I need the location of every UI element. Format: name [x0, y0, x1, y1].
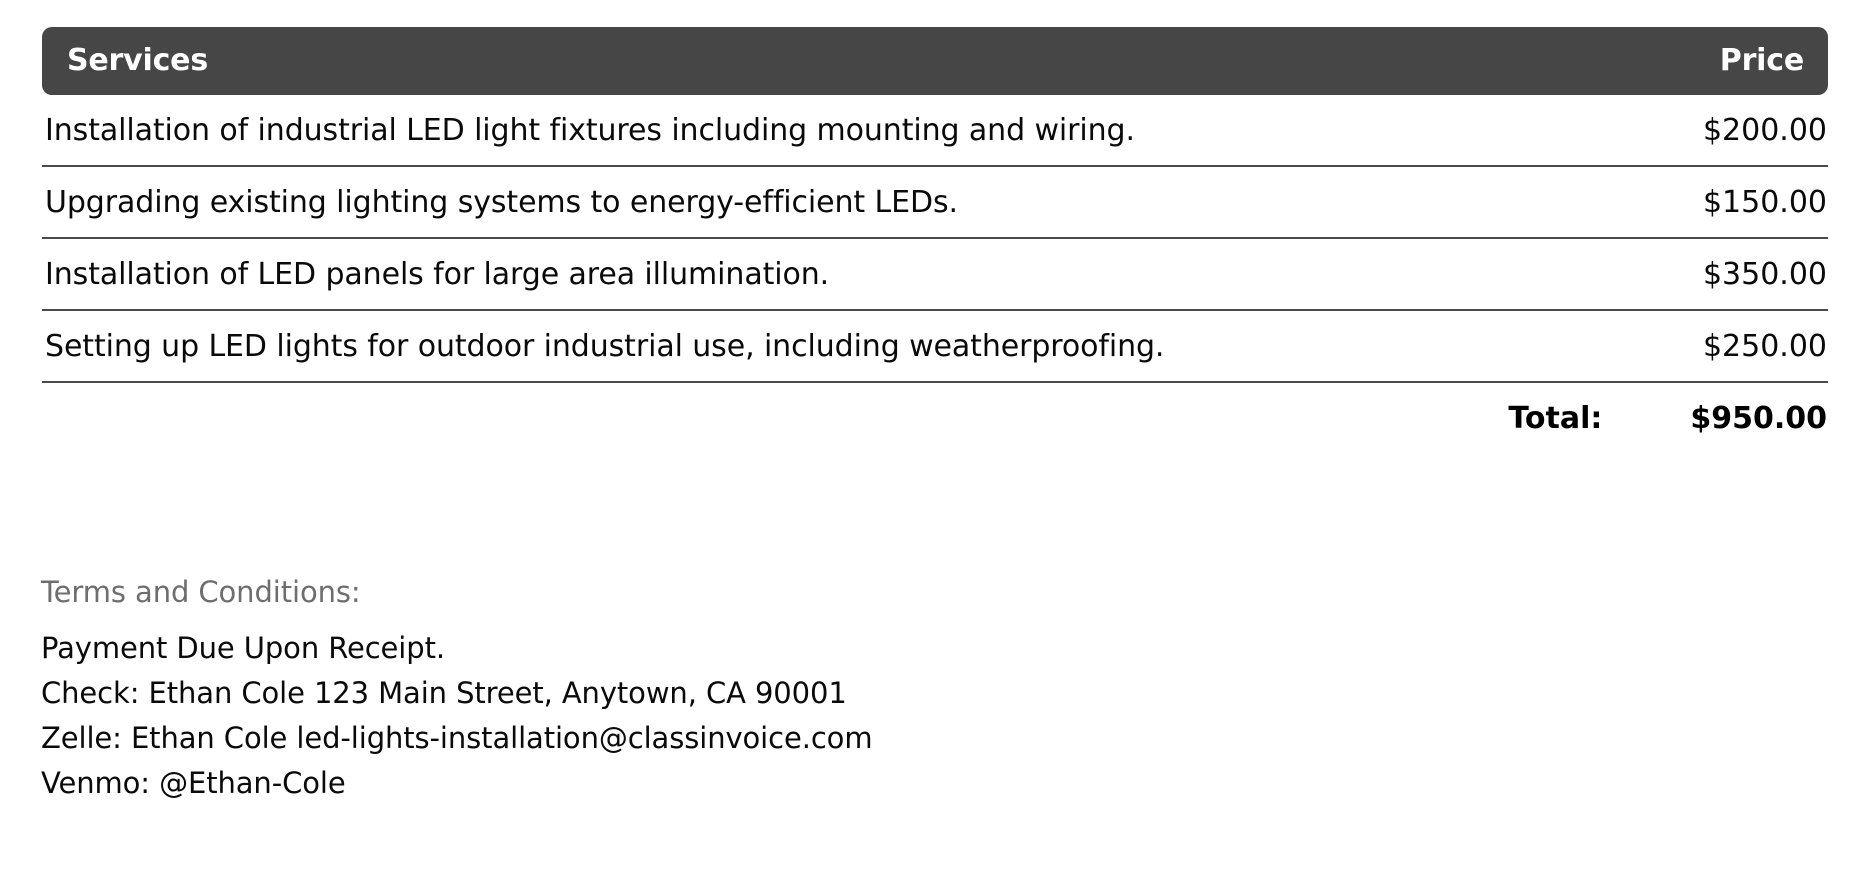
column-header-services: Services — [67, 46, 208, 76]
service-description: Setting up LED lights for outdoor indust… — [45, 330, 1164, 363]
table-row: Installation of industrial LED light fix… — [42, 95, 1828, 167]
column-header-price: Price — [1720, 46, 1804, 76]
service-description: Upgrading existing lighting systems to e… — [45, 186, 958, 219]
total-row: Total: $950.00 — [42, 383, 1828, 453]
invoice-services-sheet: Services Price Installation of industria… — [0, 0, 1868, 870]
service-description: Installation of LED panels for large are… — [45, 258, 829, 291]
service-description: Installation of industrial LED light fix… — [45, 114, 1135, 147]
terms-and-conditions-block: Terms and Conditions: Payment Due Upon R… — [41, 578, 1541, 806]
table-row: Installation of LED panels for large are… — [42, 239, 1828, 311]
terms-line-payment: Payment Due Upon Receipt. — [41, 626, 1541, 671]
service-price: $350.00 — [1703, 258, 1827, 291]
table-row: Upgrading existing lighting systems to e… — [42, 167, 1828, 239]
service-price: $200.00 — [1703, 114, 1827, 147]
terms-line-check: Check: Ethan Cole 123 Main Street, Anyto… — [41, 671, 1541, 716]
table-row: Setting up LED lights for outdoor indust… — [42, 311, 1828, 383]
service-price: $150.00 — [1703, 186, 1827, 219]
service-price: $250.00 — [1703, 330, 1827, 363]
terms-line-zelle: Zelle: Ethan Cole led-lights-installatio… — [41, 716, 1541, 761]
total-label: Total: — [1508, 401, 1602, 436]
terms-line-venmo: Venmo: @Ethan-Cole — [41, 761, 1541, 806]
services-table: Services Price Installation of industria… — [42, 27, 1828, 453]
total-value: $950.00 — [1690, 401, 1827, 436]
terms-heading: Terms and Conditions: — [41, 578, 1541, 607]
table-header-row: Services Price — [42, 27, 1828, 95]
